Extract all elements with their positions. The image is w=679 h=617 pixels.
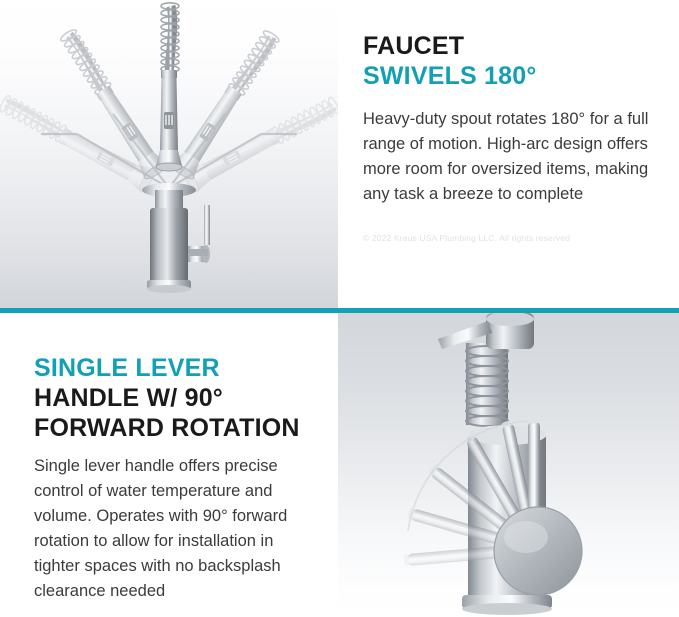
swivel-heading-group: FAUCET SWIVELS 180° bbox=[363, 31, 651, 91]
top-row: FAUCET SWIVELS 180° Heavy-duty spout rot… bbox=[0, 0, 679, 308]
copyright-notice: © 2022 Kraus USA Plumbing LLC. All right… bbox=[363, 233, 651, 244]
feature-sheet: FAUCET SWIVELS 180° Heavy-duty spout rot… bbox=[0, 0, 679, 617]
lever-heading-line3: FORWARD ROTATION bbox=[34, 413, 304, 443]
faucet-swivel-image-panel bbox=[0, 0, 338, 308]
lever-handle-text-panel: SINGLE LEVER HANDLE W/ 90° FORWARD ROTAT… bbox=[0, 313, 338, 617]
lever-body-text: Single lever handle offers precise contr… bbox=[34, 454, 304, 604]
faucet-swivel-illustration bbox=[0, 0, 338, 308]
lever-handle-rotation-illustration bbox=[338, 313, 679, 617]
swivel-body-text: Heavy-duty spout rotates 180° for a full… bbox=[363, 107, 651, 207]
faucet-swivel-text-panel: FAUCET SWIVELS 180° Heavy-duty spout rot… bbox=[338, 0, 679, 308]
swivel-heading-line1: FAUCET bbox=[363, 31, 651, 61]
lever-heading-line1: SINGLE LEVER bbox=[34, 353, 304, 383]
lever-rotation-image-panel bbox=[338, 313, 679, 617]
faucet-base bbox=[142, 183, 210, 293]
bottom-row: SINGLE LEVER HANDLE W/ 90° FORWARD ROTAT… bbox=[0, 313, 679, 617]
lever-heading-line2: HANDLE W/ 90° bbox=[34, 383, 304, 413]
lever-heading-group: SINGLE LEVER HANDLE W/ 90° FORWARD ROTAT… bbox=[34, 353, 304, 443]
swivel-heading-line2: SWIVELS 180° bbox=[363, 61, 651, 91]
